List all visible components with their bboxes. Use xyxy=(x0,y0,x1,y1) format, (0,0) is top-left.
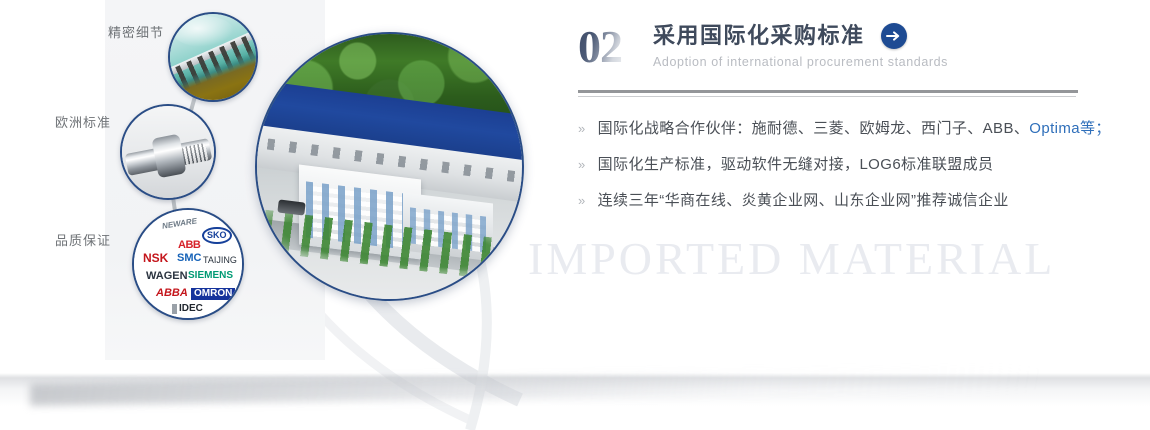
brand-logo-omron: OMRON xyxy=(191,288,235,300)
brand-logo-siemens: SIEMENS xyxy=(188,271,233,281)
page-subtitle: Adoption of international procurement st… xyxy=(653,55,948,69)
brand-logo-nsk: NSK xyxy=(143,252,168,264)
list-item: » 连续三年“华商在线、炎黄企业网、山东企业网”推荐诚信企业 xyxy=(578,189,1108,210)
header-divider-thick xyxy=(578,90,1078,93)
header-divider-thin xyxy=(578,96,1076,97)
gear-teeth-icon xyxy=(168,12,258,102)
section-number: 02 xyxy=(578,24,622,70)
arrow-right-circle-icon[interactable] xyxy=(881,23,907,49)
section-title-block: 采用国际化采购标准 Adoption of international proc… xyxy=(653,22,948,69)
promo-banner: 精密细节 欧洲标准 品质保证 NEWARE SKO ABB xyxy=(0,0,1150,430)
watermark-text: IMPORTED MATERIAL xyxy=(528,232,1055,285)
page-title: 采用国际化采购标准 xyxy=(653,22,865,50)
brand-logo-sko: SKO xyxy=(202,227,232,244)
brand-logos-icon: NEWARE SKO ABB NSK SMC TAIJING WAGEN SIE… xyxy=(132,208,244,320)
feature-label-european: 欧洲标准 xyxy=(55,112,111,131)
bottom-shadow xyxy=(0,368,1150,430)
list-item-text: 国际化战略合作伙伴：施耐德、三菱、欧姆龙、西门子、ABB、Optima等； xyxy=(598,117,1111,138)
feature-label-quality: 品质保证 xyxy=(55,230,111,249)
section-header: 02 采用国际化采购标准 Adoption of international p… xyxy=(578,22,1108,84)
feature-bullet-list: » 国际化战略合作伙伴：施耐德、三菱、欧姆龙、西门子、ABB、Optima等； … xyxy=(578,117,1108,210)
factory-building-photo xyxy=(255,32,524,301)
ball-screw-icon xyxy=(120,104,216,200)
brand-logo-abba: ABBA xyxy=(156,288,188,299)
brand-logo-taijing: TAIJING xyxy=(203,256,237,265)
list-item-text: 连续三年“华商在线、炎黄企业网、山东企业网”推荐诚信企业 xyxy=(598,189,1009,210)
brand-logo-neware: NEWARE xyxy=(162,217,198,230)
feature-label-precision: 精密细节 xyxy=(108,22,164,41)
brand-logo-smc: SMC xyxy=(177,253,201,264)
list-item-text: 国际化生产标准，驱动软件无缝对接，LOG6标准联盟成员 xyxy=(598,153,994,174)
list-item-highlight: Optima等； xyxy=(1029,120,1111,137)
chevron-double-right-icon: » xyxy=(578,158,586,171)
content-column: 02 采用国际化采购标准 Adoption of international p… xyxy=(578,22,1108,226)
chevron-double-right-icon: » xyxy=(578,194,586,207)
list-item: » 国际化生产标准，驱动软件无缝对接，LOG6标准联盟成员 xyxy=(578,153,1108,174)
brand-logo-abb: ABB xyxy=(178,240,200,251)
brand-logo-cloud: NEWARE SKO ABB NSK SMC TAIJING WAGEN SIE… xyxy=(134,210,242,318)
list-item: » 国际化战略合作伙伴：施耐德、三菱、欧姆龙、西门子、ABB、Optima等； xyxy=(578,117,1108,138)
chevron-double-right-icon: » xyxy=(578,122,586,135)
brand-logo-wagen: WAGEN xyxy=(146,271,188,282)
brand-logo-idec: IDEC xyxy=(172,304,203,314)
